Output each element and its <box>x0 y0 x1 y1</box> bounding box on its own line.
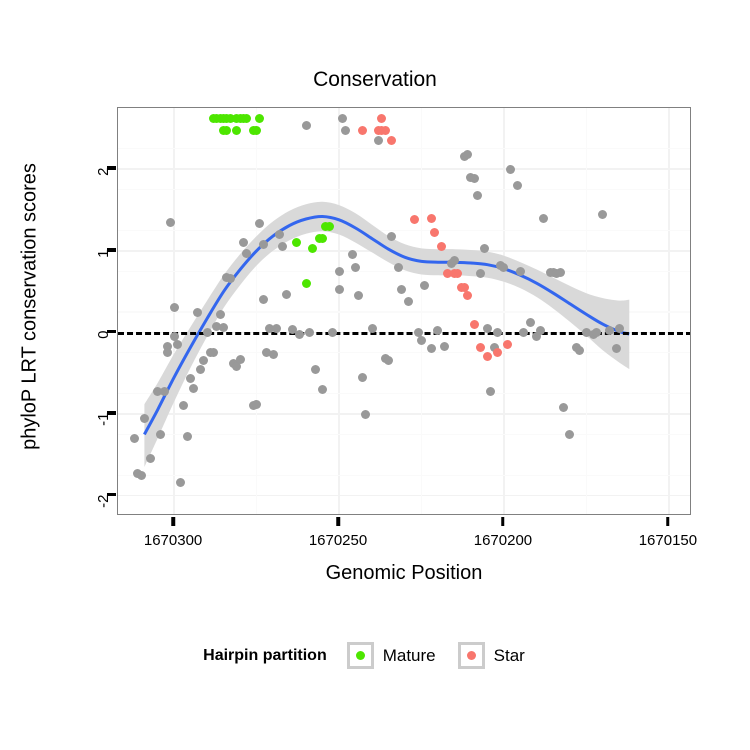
scatter-point-other <box>173 340 182 349</box>
scatter-point-other <box>318 385 327 394</box>
scatter-point-other <box>506 165 515 174</box>
scatter-point-other <box>130 434 139 443</box>
scatter-point-other <box>305 328 314 337</box>
scatter-point-other <box>394 263 403 272</box>
scatter-point-other <box>361 410 370 419</box>
scatter-point-other <box>440 342 449 351</box>
scatter-point-other <box>536 326 545 335</box>
x-tick-mark <box>501 517 505 526</box>
scatter-point-other <box>483 324 492 333</box>
scatter-point-star <box>476 343 485 352</box>
scatter-point-other <box>612 344 621 353</box>
scatter-point-other <box>216 310 225 319</box>
x-tick-label: 1670300 <box>144 532 202 549</box>
y-tick-label: 2 <box>95 168 112 176</box>
scatter-point-other <box>516 267 525 276</box>
scatter-point-other <box>338 114 347 123</box>
scatter-point-mature <box>292 238 301 247</box>
scatter-point-other <box>259 295 268 304</box>
scatter-point-other <box>615 324 624 333</box>
plot-panel <box>117 107 691 515</box>
scatter-point-other <box>335 285 344 294</box>
smooth-trend-layer <box>118 108 691 515</box>
x-tick-mark <box>171 517 175 526</box>
legend-title: Hairpin partition <box>203 647 327 665</box>
legend-key-mature[interactable] <box>347 642 374 669</box>
scatter-point-other <box>493 328 502 337</box>
star-dot-icon <box>467 651 476 660</box>
scatter-point-other <box>259 240 268 249</box>
scatter-point-other <box>420 281 429 290</box>
y-tick-label: -2 <box>95 494 112 507</box>
x-axis-label: Genomic Position <box>117 562 691 585</box>
scatter-point-other <box>193 308 202 317</box>
scatter-point-other <box>559 403 568 412</box>
scatter-point-star <box>427 214 436 223</box>
scatter-point-other <box>140 414 149 423</box>
scatter-point-other <box>242 249 251 258</box>
mature-dot-icon <box>356 651 365 660</box>
scatter-point-other <box>486 387 495 396</box>
x-tick-label: 1670250 <box>309 532 367 549</box>
scatter-point-other <box>203 328 212 337</box>
y-tick-label: -1 <box>95 413 112 426</box>
scatter-point-other <box>417 336 426 345</box>
scatter-point-other <box>196 365 205 374</box>
scatter-point-other <box>598 210 607 219</box>
scatter-point-other <box>387 232 396 241</box>
scatter-point-other <box>358 373 367 382</box>
scatter-point-other <box>252 400 261 409</box>
scatter-point-other <box>328 328 337 337</box>
x-tick-label: 1670200 <box>474 532 532 549</box>
x-tick-mark <box>336 517 340 526</box>
scatter-point-other <box>166 218 175 227</box>
y-tick-label: 1 <box>95 249 112 257</box>
scatter-point-other <box>480 244 489 253</box>
scatter-point-other <box>513 181 522 190</box>
scatter-point-mature <box>308 244 317 253</box>
scatter-point-other <box>170 303 179 312</box>
scatter-point-other <box>335 267 344 276</box>
scatter-point-other <box>272 324 281 333</box>
legend: Hairpin partition Mature Star <box>0 642 750 669</box>
legend-label-star: Star <box>494 646 525 666</box>
scatter-point-star <box>437 242 446 251</box>
scatter-point-star <box>430 228 439 237</box>
scatter-point-other <box>226 274 235 283</box>
scatter-point-star <box>470 320 479 329</box>
chart-title: Conservation <box>0 68 750 92</box>
scatter-point-other <box>592 328 601 337</box>
scatter-point-star <box>503 340 512 349</box>
scatter-point-other <box>236 355 245 364</box>
scatter-point-other <box>295 330 304 339</box>
legend-label-mature: Mature <box>383 646 436 666</box>
x-tick-mark <box>666 517 670 526</box>
scatter-point-other <box>473 191 482 200</box>
scatter-point-other <box>450 256 459 265</box>
scatter-point-other <box>539 214 548 223</box>
scatter-point-other <box>556 268 565 277</box>
scatter-point-other <box>368 324 377 333</box>
scatter-point-mature <box>302 279 311 288</box>
scatter-point-other <box>526 318 535 327</box>
scatter-point-other <box>219 323 228 332</box>
scatter-point-other <box>351 263 360 272</box>
legend-key-star[interactable] <box>458 642 485 669</box>
scatter-point-other <box>137 471 146 480</box>
scatter-point-other <box>160 387 169 396</box>
y-axis-label: phyloP LRT conservation scores <box>19 97 42 517</box>
scatter-point-other <box>269 350 278 359</box>
scatter-point-other <box>239 238 248 247</box>
scatter-point-other <box>302 121 311 130</box>
scatter-point-other <box>404 297 413 306</box>
chart-root: Conservation phyloP LRT conservation sco… <box>0 0 750 750</box>
scatter-point-mature <box>318 234 327 243</box>
scatter-point-star <box>358 126 367 135</box>
scatter-point-star <box>381 126 390 135</box>
y-tick-label: 0 <box>95 331 112 339</box>
x-tick-label: 1670150 <box>639 532 697 549</box>
scatter-point-mature <box>325 222 334 231</box>
